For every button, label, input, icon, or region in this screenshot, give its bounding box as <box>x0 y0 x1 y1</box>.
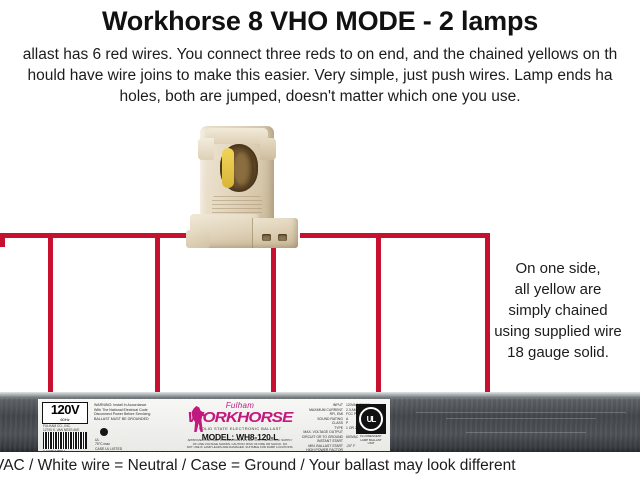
bottom-caption: VAC / White wire = Neutral / Case = Grou… <box>0 456 640 476</box>
lamp-holder-shoulder-left <box>198 138 214 160</box>
lamp-holder-contact-slot <box>222 148 234 188</box>
label-product-name: WORKHORSE <box>177 410 302 426</box>
intro-line-2: hould have wire joins to make this easie… <box>0 65 640 86</box>
label-ul-badge-text: UL <box>359 407 383 431</box>
label-warning-text: WARNING: Install In Accordance With The … <box>94 403 182 421</box>
note-line-3: simply chained <box>478 300 638 321</box>
yellow-wire-note: On one side, all yellow are simply chain… <box>478 258 638 363</box>
label-ul-dot-mark <box>100 428 108 436</box>
label-ul-text: UL 75°C max CASE UL LISTED TYPE 'HL' APP… <box>95 438 155 451</box>
label-voltage-box: 120V 60Hz <box>42 402 88 424</box>
page-title: Workhorse 8 VHO MODE - 2 lamps <box>0 6 640 37</box>
ul-listed-badge-icon: UL <box>356 404 386 434</box>
note-line-2: all yellow are <box>478 279 638 300</box>
lamp-holder-socket-cavity <box>234 150 254 187</box>
label-spec-value <box>346 448 390 451</box>
label-voltage-frequency: 60Hz <box>43 417 87 422</box>
lamp-holder-base-right <box>252 218 298 248</box>
note-line-4: using supplied wire <box>478 321 638 342</box>
red-wire-drop-4 <box>376 233 381 396</box>
lamp-holder-seam <box>252 218 253 248</box>
ballast-scratch-2 <box>446 418 596 419</box>
red-wire-drop-1 <box>48 233 53 396</box>
note-line-5: 18 gauge solid. <box>478 342 638 363</box>
label-spec-row: HIGH POWER FACTOR <box>288 448 390 451</box>
label-barcode-number: 0 12345 67890 1 <box>43 449 66 451</box>
lamp-holder-shoulder-right <box>260 138 276 160</box>
label-brand-logo: Fulham WORKHORSE SOLID STATE ELECTRONIC … <box>184 402 296 443</box>
note-line-1: On one side, <box>478 258 638 279</box>
label-barcode <box>43 432 87 449</box>
intro-line-3: holes, both are jumped, doesn't matter w… <box>0 86 640 107</box>
label-spec-key: HIGH POWER FACTOR <box>288 448 343 451</box>
ballast-unit: 120V 60Hz FULHAM CO., INC. 12705 S. VAN … <box>0 392 640 452</box>
lamp-holder-terminal-hole-a <box>262 234 271 241</box>
lamp-holder-terminal-hole-b <box>278 234 287 241</box>
label-voltage-value: 120V <box>51 402 79 417</box>
intro-line-1: allast has 6 red wires. You connect thre… <box>0 44 640 65</box>
label-fineprint: APPROVED FOR LAMP COMBINATIONS LISTED. F… <box>178 439 302 450</box>
red-wire-drop-2 <box>155 233 160 396</box>
lamp-holder-base-foot <box>186 230 210 248</box>
label-ul-badge-caption: FLUORESCENT LAMP BALLAST UNIT <box>350 435 390 446</box>
red-wire-bus-left <box>0 233 190 238</box>
lamp-holder-top-notch <box>206 128 268 144</box>
red-wire-drop-3 <box>271 243 276 396</box>
lamp-holder-tombstone <box>186 126 306 248</box>
intro-paragraph: allast has 6 red wires. You connect thre… <box>0 44 640 107</box>
ballast-scratch-3 <box>466 432 586 433</box>
red-wire-edge-stub <box>0 233 5 247</box>
red-wire-bus-right <box>300 233 490 238</box>
ballast-scratch-1 <box>416 412 626 413</box>
ballast-top-lip <box>0 392 640 398</box>
ballast-spec-label: 120V 60Hz FULHAM CO., INC. 12705 S. VAN … <box>38 399 390 451</box>
